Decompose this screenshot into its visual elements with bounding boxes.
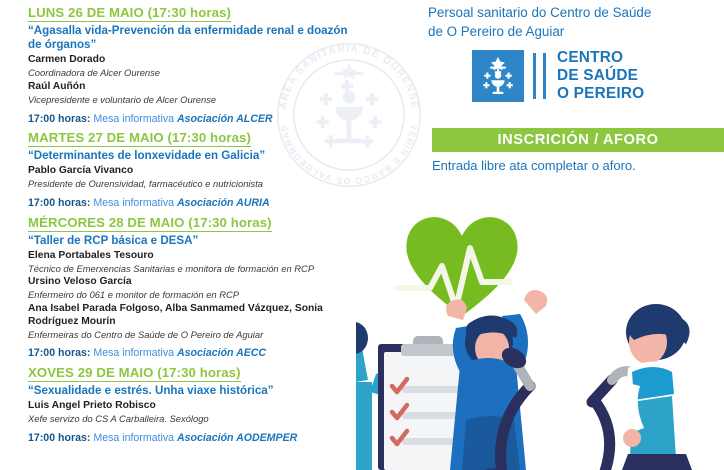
mesa-time: 17:00 horas: — [28, 197, 90, 209]
talk-title: “Sexualidade e estrés. Unha viaxe histór… — [28, 384, 364, 398]
mesa-informativa: 17:00 horas: Mesa informativa Asociación… — [28, 347, 364, 360]
speaker-role: Xefe servizo do CS A Carballeira. Sexólo… — [28, 413, 364, 425]
mesa-time: 17:00 horas: — [28, 432, 90, 444]
mesa-organisation: Asociación AECC — [177, 347, 266, 359]
day-heading: XOVES 29 DE MAIO (17:30 horas) — [28, 365, 241, 382]
galicia-chalice-crest-icon — [472, 50, 524, 102]
banner-note: Entrada libre ata completar o aforo. — [432, 158, 724, 173]
doctor-figure — [620, 304, 694, 470]
speaker-role: Técnico de Emerxencias Sanitarias e moni… — [28, 263, 364, 275]
mesa-organisation: Asociación AODEMPER — [177, 432, 297, 444]
mesa-organisation: Asociación AURIA — [177, 197, 270, 209]
speaker-name: Raúl Auñón — [28, 81, 364, 94]
talk-title: “Taller de RCP básica e DESA” — [28, 234, 364, 248]
programme-day: MÉRCORES 28 DE MAIO (17:30 horas) “Talle… — [28, 214, 364, 361]
speaker-name: Ana Isabel Parada Folgoso, Alba Sanmamed… — [28, 303, 364, 329]
headline-line-2: de O Pereiro de Aguiar — [428, 22, 720, 41]
logo-line-2: DE SAÚDE — [557, 67, 644, 85]
day-heading: LUNS 26 DE MAIO (17:30 horas) — [28, 5, 231, 22]
speaker-name: Pablo García Vivanco — [28, 165, 364, 178]
banner-label: INSCRICIÓN / AFORO — [497, 132, 658, 148]
logo-line-1: CENTRO — [557, 49, 644, 67]
mesa-time: 17:00 horas: — [28, 113, 90, 125]
programme-day: MARTES 27 DE MAIO (17:30 horas) “Determi… — [28, 129, 364, 209]
mesa-text: Mesa informativa — [93, 197, 174, 209]
mesa-informativa: 17:00 horas: Mesa informativa Asociación… — [28, 113, 364, 126]
mesa-time: 17:00 horas: — [28, 347, 90, 359]
programme-day: LUNS 26 DE MAIO (17:30 horas) “Agasalla … — [28, 4, 364, 125]
speaker-role: Enfermeiro do 061 e monitor de formación… — [28, 289, 364, 301]
healthcare-team-illustration — [356, 196, 724, 470]
right-column: Persoal sanitario do Centro de Saúde de … — [372, 0, 724, 470]
centro-saude-logo: CENTRO DE SAÚDE O PEREIRO — [472, 49, 644, 103]
logo-divider-2 — [543, 53, 546, 99]
programme-day: XOVES 29 DE MAIO (17:30 horas) “Sexualid… — [28, 364, 364, 444]
day-heading: MÉRCORES 28 DE MAIO (17:30 horas) — [28, 215, 272, 232]
mesa-organisation: Asociación ALCER — [177, 113, 273, 125]
mesa-informativa: 17:00 horas: Mesa informativa Asociación… — [28, 432, 364, 445]
mesa-text: Mesa informativa — [93, 432, 174, 444]
speaker-role: Presidente de Ourensividad, farmacéutico… — [28, 178, 364, 190]
speaker-name: Elena Portabales Tesouro — [28, 250, 364, 263]
talk-title: “Agasalla vida-Prevención da enfermidade… — [28, 24, 364, 52]
speaker-name: Luis Angel Prieto Robisco — [28, 400, 364, 413]
programme-list: LUNS 26 DE MAIO (17:30 horas) “Agasalla … — [0, 0, 372, 470]
speaker-role: Enfermeiras do Centro de Saúde de O Pere… — [28, 329, 364, 341]
day-heading: MARTES 27 DE MAIO (17:30 horas) — [28, 130, 251, 147]
speaker-name: Ursino Veloso García — [28, 276, 364, 289]
speaker-name: Carmen Dorado — [28, 54, 364, 67]
speaker-role: Vicepresidente e voluntario de Alcer Our… — [28, 94, 364, 106]
mesa-informativa: 17:00 horas: Mesa informativa Asociación… — [28, 197, 364, 210]
speaker-role: Coordinadora de Alcer Ourense — [28, 67, 364, 79]
logo-line-3: O PEREIRO — [557, 85, 644, 103]
page-title: Persoal sanitario do Centro de Saúde de … — [428, 3, 720, 41]
inscricion-aforo-banner: INSCRICIÓN / AFORO — [432, 128, 724, 152]
headline-line-1: Persoal sanitario do Centro de Saúde — [428, 3, 720, 22]
logo-divider-1 — [533, 53, 536, 99]
mesa-text: Mesa informativa — [93, 113, 174, 125]
mesa-text: Mesa informativa — [93, 347, 174, 359]
logo-text: CENTRO DE SAÚDE O PEREIRO — [557, 49, 644, 103]
talk-title: “Determinantes de lonxevidade en Galicia… — [28, 149, 364, 163]
